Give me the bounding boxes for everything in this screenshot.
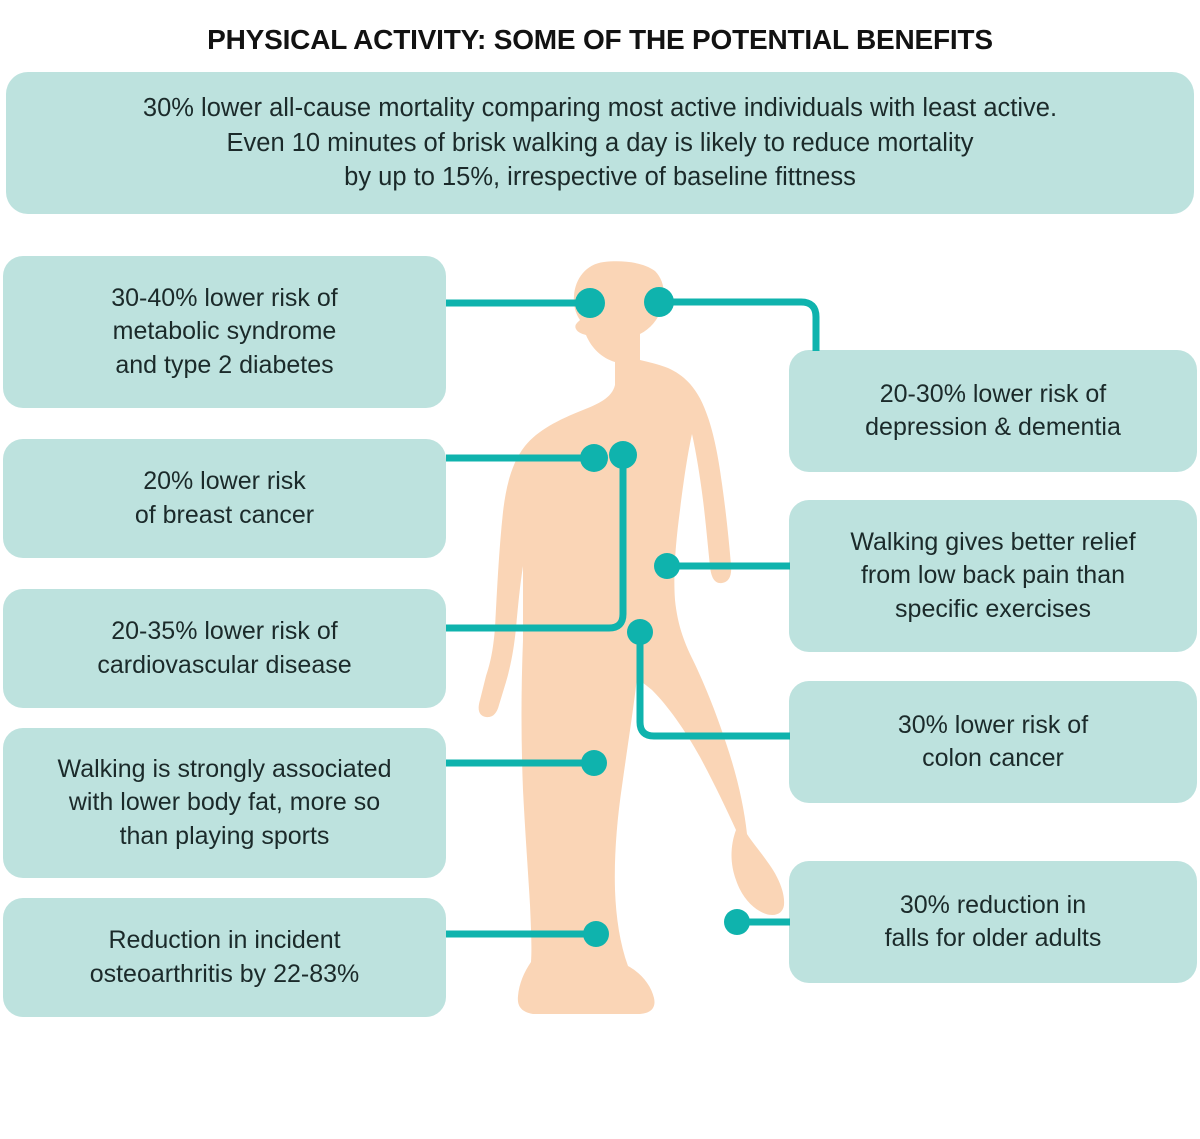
- fact-box-breast-cancer: 20% lower risk of breast cancer: [3, 439, 446, 558]
- fact-text-breast-cancer: 20% lower risk of breast cancer: [135, 465, 314, 532]
- fact-box-depression: 20-30% lower risk of depression & dement…: [789, 350, 1197, 472]
- page-title: PHYSICAL ACTIVITY: SOME OF THE POTENTIAL…: [0, 24, 1200, 56]
- fact-box-back-pain: Walking gives better relief from low bac…: [789, 500, 1197, 652]
- fact-text-falls: 30% reduction in falls for older adults: [885, 889, 1102, 956]
- node-head-right: [644, 287, 674, 317]
- fact-text-back-pain: Walking gives better relief from low bac…: [850, 526, 1135, 626]
- mortality-banner-text: 30% lower all-cause mortality comparing …: [143, 91, 1057, 196]
- connector-colon-cancer: [640, 632, 790, 736]
- node-thigh: [581, 750, 607, 776]
- fact-text-cardiovascular: 20-35% lower risk of cardiovascular dise…: [97, 615, 351, 682]
- fact-box-osteoarthritis: Reduction in incident osteoarthritis by …: [3, 898, 446, 1017]
- node-ankle: [583, 921, 609, 947]
- fact-box-falls: 30% reduction in falls for older adults: [789, 861, 1197, 983]
- mortality-banner: 30% lower all-cause mortality comparing …: [6, 72, 1194, 214]
- fact-box-colon-cancer: 30% lower risk of colon cancer: [789, 681, 1197, 803]
- fact-text-depression: 20-30% lower risk of depression & dement…: [865, 378, 1121, 445]
- fact-text-osteoarthritis: Reduction in incident osteoarthritis by …: [90, 924, 360, 991]
- fact-text-body-fat: Walking is strongly associated with lowe…: [58, 753, 392, 853]
- fact-text-colon-cancer: 30% lower risk of colon cancer: [898, 709, 1088, 776]
- connector-depression: [659, 302, 816, 351]
- fact-box-body-fat: Walking is strongly associated with lowe…: [3, 728, 446, 878]
- node-head-left: [575, 288, 605, 318]
- fact-text-metabolic: 30-40% lower risk of metabolic syndrome …: [111, 282, 337, 382]
- node-lower-back: [654, 553, 680, 579]
- node-chest-left: [580, 444, 608, 472]
- node-abdomen: [627, 619, 653, 645]
- connector-cardiovascular: [446, 455, 623, 628]
- node-rear-foot: [724, 909, 750, 935]
- infographic-canvas: PHYSICAL ACTIVITY: SOME OF THE POTENTIAL…: [0, 0, 1200, 1139]
- node-heart: [609, 441, 637, 469]
- fact-box-metabolic: 30-40% lower risk of metabolic syndrome …: [3, 256, 446, 408]
- fact-box-cardiovascular: 20-35% lower risk of cardiovascular dise…: [3, 589, 446, 708]
